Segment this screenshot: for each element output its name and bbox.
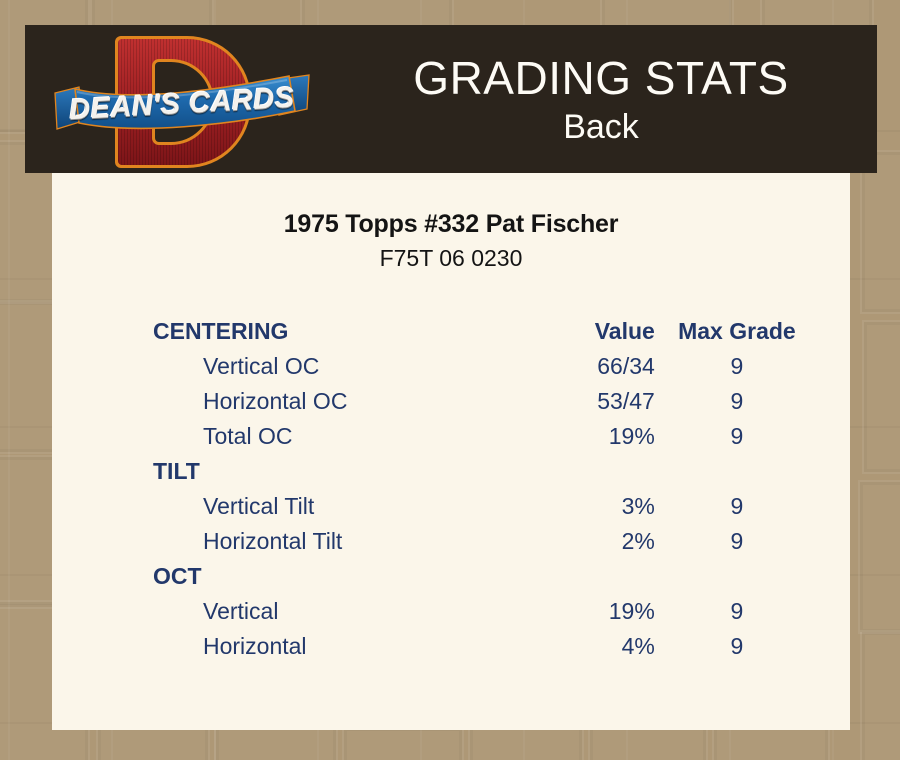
section-label: TILT	[153, 454, 512, 489]
stat-value: 3%	[512, 489, 661, 524]
table-row: Horizontal OC53/479	[153, 384, 813, 419]
table-body: Vertical OC66/349Horizontal OC53/479Tota…	[153, 349, 813, 664]
table-row: Horizontal4%9	[153, 629, 813, 664]
logo-ribbon: DEAN'S CARDS	[53, 73, 311, 135]
section-value-spacer	[512, 454, 661, 489]
table-row: Vertical OC66/349	[153, 349, 813, 384]
stat-label: Total OC	[153, 419, 512, 454]
column-header-value: Value	[512, 314, 661, 349]
stat-value: 53/47	[512, 384, 661, 419]
page-root: DEAN'S CARDS GRADING STATS Back 1975 Top…	[0, 0, 900, 760]
section-label: OCT	[153, 559, 512, 594]
stat-label: Horizontal	[153, 629, 512, 664]
stat-label: Vertical OC	[153, 349, 512, 384]
page-title: GRADING STATS	[413, 51, 788, 105]
stat-max-grade: 9	[661, 524, 813, 559]
background-card-watermark	[342, 726, 464, 760]
stat-value: 19%	[512, 419, 661, 454]
background-card-watermark	[860, 150, 900, 314]
table-header-row: CENTERING Value Max Grade	[153, 314, 813, 349]
card-id: F75T 06 0230	[52, 245, 850, 272]
stat-label: Horizontal OC	[153, 384, 512, 419]
section-grade-spacer	[661, 559, 813, 594]
stat-label: Vertical Tilt	[153, 489, 512, 524]
stat-label: Vertical	[153, 594, 512, 629]
column-header-max-grade: Max Grade	[661, 314, 813, 349]
header-title-group: GRADING STATS Back	[325, 25, 877, 173]
background-card-watermark	[860, 630, 900, 760]
stat-value: 4%	[512, 629, 661, 664]
page-subtitle: Back	[563, 107, 639, 147]
table-row: Vertical19%9	[153, 594, 813, 629]
background-card-watermark	[858, 480, 900, 634]
stat-max-grade: 9	[661, 489, 813, 524]
stat-value: 2%	[512, 524, 661, 559]
header-band: DEAN'S CARDS GRADING STATS Back	[25, 25, 877, 173]
stat-max-grade: 9	[661, 384, 813, 419]
table-row: Horizontal Tilt2%9	[153, 524, 813, 559]
section-header-row: TILT	[153, 454, 813, 489]
stat-value: 19%	[512, 594, 661, 629]
stat-label: Horizontal Tilt	[153, 524, 512, 559]
content-panel: 1975 Topps #332 Pat Fischer F75T 06 0230…	[52, 172, 850, 730]
table-row: Total OC19%9	[153, 419, 813, 454]
grading-stats-table: CENTERING Value Max Grade Vertical OC66/…	[153, 314, 813, 664]
stat-max-grade: 9	[661, 419, 813, 454]
section-header-row: OCT	[153, 559, 813, 594]
background-card-watermark	[862, 320, 900, 474]
stat-max-grade: 9	[661, 594, 813, 629]
stat-max-grade: 9	[661, 629, 813, 664]
section-grade-spacer	[661, 454, 813, 489]
table-row: Vertical Tilt3%9	[153, 489, 813, 524]
deans-cards-logo: DEAN'S CARDS	[53, 30, 313, 170]
stat-value: 66/34	[512, 349, 661, 384]
card-title: 1975 Topps #332 Pat Fischer	[52, 210, 850, 239]
table-head: CENTERING Value Max Grade	[153, 314, 813, 349]
stat-max-grade: 9	[661, 349, 813, 384]
column-header-centering: CENTERING	[153, 314, 512, 349]
section-value-spacer	[512, 559, 661, 594]
